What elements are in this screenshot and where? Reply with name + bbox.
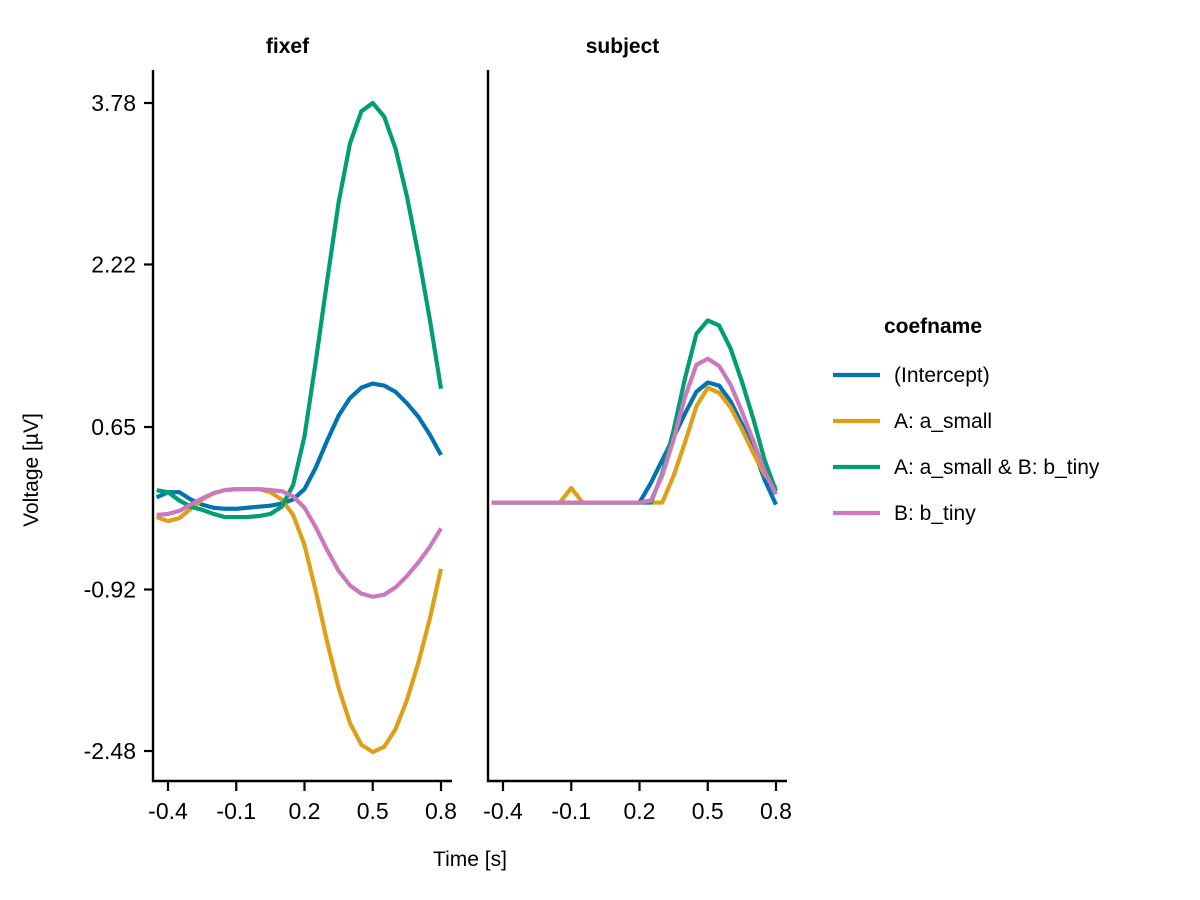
panel-subject: subject-0.4-0.10.20.50.8 <box>483 35 792 824</box>
x-tick-label: -0.4 <box>148 798 188 824</box>
legend-entry-label: A: a_small <box>894 410 992 433</box>
legend-entry-label: (Intercept) <box>894 364 990 387</box>
legend-title: coefname <box>884 315 982 338</box>
y-tick-label: 3.78 <box>91 90 136 116</box>
y-tick-label: 0.65 <box>91 414 136 440</box>
legend-entry-2[interactable]: A: a_small & B: b_tiny <box>833 456 1100 479</box>
facet-title-fixef: fixef <box>266 35 310 58</box>
y-tick-label: -2.48 <box>84 738 136 764</box>
x-axis-title: Time [s] <box>433 848 507 871</box>
panel-fixef: fixef-0.4-0.10.20.50.8 <box>148 35 457 824</box>
legend-entry-0[interactable]: (Intercept) <box>833 364 990 387</box>
series-line-b-b-tiny <box>492 359 776 503</box>
legend-entry-label: B: b_tiny <box>894 502 976 525</box>
x-tick-label: 0.8 <box>425 798 457 824</box>
x-tick-label: 0.2 <box>289 798 321 824</box>
series-line-a-a-small-b-b-tiny <box>157 103 441 517</box>
chart-root: 3.782.220.65-0.92-2.48fixef-0.4-0.10.20.… <box>0 0 1200 900</box>
x-tick-label: -0.1 <box>551 798 591 824</box>
y-axis-title: Voltage [µV] <box>20 413 43 527</box>
series-line--intercept- <box>492 382 776 504</box>
x-tick-label: -0.4 <box>483 798 523 824</box>
legend-entry-3[interactable]: B: b_tiny <box>833 502 976 525</box>
x-tick-label: 0.5 <box>692 798 724 824</box>
series-line--intercept- <box>157 384 441 509</box>
legend-entry-label: A: a_small & B: b_tiny <box>894 456 1100 479</box>
x-tick-label: -0.1 <box>216 798 256 824</box>
x-tick-label: 0.5 <box>357 798 389 824</box>
y-tick-label: -0.92 <box>84 577 136 603</box>
x-tick-label: 0.8 <box>760 798 792 824</box>
x-tick-label: 0.2 <box>624 798 656 824</box>
coefficient-time-series-plot: 3.782.220.65-0.92-2.48fixef-0.4-0.10.20.… <box>0 0 1200 900</box>
legend-entry-1[interactable]: A: a_small <box>833 410 992 433</box>
y-tick-label: 2.22 <box>91 251 136 277</box>
panel-spine <box>153 70 452 781</box>
series-line-a-a-small <box>157 489 441 752</box>
facet-title-subject: subject <box>586 35 660 58</box>
